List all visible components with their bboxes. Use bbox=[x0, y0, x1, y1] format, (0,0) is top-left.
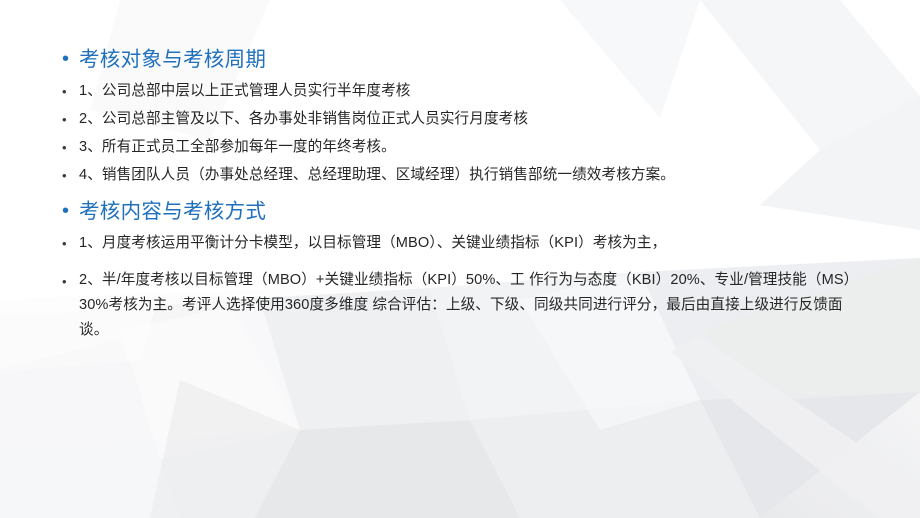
list-item-text: 4、销售团队人员（办事处总经理、总经理助理、区域经理）执行销售部统一绩效考核方案… bbox=[79, 162, 675, 189]
list-item-text: 1、月度考核运用平衡计分卡模型，以目标管理（MBO）、关键业绩指标（KPI）考核… bbox=[79, 230, 666, 257]
list-item: • 2、公司总部主管及以下、各办事处非销售岗位正式人员实行月度考核 bbox=[62, 106, 858, 133]
list-item: • 4、销售团队人员（办事处总经理、总经理助理、区域经理）执行销售部统一绩效考核… bbox=[62, 162, 858, 189]
bullet-icon: • bbox=[62, 162, 79, 189]
bullet-icon: • bbox=[62, 44, 79, 75]
bullet-icon: • bbox=[62, 106, 79, 133]
list-item: • 1、月度考核运用平衡计分卡模型，以目标管理（MBO）、关键业绩指标（KPI）… bbox=[62, 230, 858, 257]
list-item-text: 2、公司总部主管及以下、各办事处非销售岗位正式人员实行月度考核 bbox=[79, 106, 528, 133]
section-heading-2: • 考核内容与考核方式 bbox=[62, 196, 858, 227]
list-item: • 1、公司总部中层以上正式管理人员实行半年度考核 bbox=[62, 78, 858, 105]
bullet-icon: • bbox=[62, 268, 79, 295]
list-item-text: 3、所有正式员工全部参加每年一度的年终考核。 bbox=[79, 134, 396, 161]
bullet-icon: • bbox=[62, 196, 79, 227]
bullet-icon: • bbox=[62, 134, 79, 161]
section-assessment-target: • 考核对象与考核周期 • 1、公司总部中层以上正式管理人员实行半年度考核 • … bbox=[62, 44, 858, 189]
list-item-text: 2、半/年度考核以目标管理（MBO）+关键业绩指标（KPI）50%、工 作行为与… bbox=[79, 268, 858, 343]
list-item: • 3、所有正式员工全部参加每年一度的年终考核。 bbox=[62, 134, 858, 161]
section-assessment-content: • 考核内容与考核方式 • 1、月度考核运用平衡计分卡模型，以目标管理（MBO）… bbox=[62, 196, 858, 343]
slide-content: • 考核对象与考核周期 • 1、公司总部中层以上正式管理人员实行半年度考核 • … bbox=[0, 0, 920, 518]
list-gap bbox=[62, 258, 858, 268]
slide-canvas: • 考核对象与考核周期 • 1、公司总部中层以上正式管理人员实行半年度考核 • … bbox=[0, 0, 920, 518]
list-item: • 2、半/年度考核以目标管理（MBO）+关键业绩指标（KPI）50%、工 作行… bbox=[62, 268, 858, 343]
section-heading-2-text: 考核内容与考核方式 bbox=[79, 196, 266, 227]
section-heading-1-text: 考核对象与考核周期 bbox=[79, 44, 266, 75]
list-item-text: 1、公司总部中层以上正式管理人员实行半年度考核 bbox=[79, 78, 410, 105]
bullet-icon: • bbox=[62, 78, 79, 105]
section-heading-1: • 考核对象与考核周期 bbox=[62, 44, 858, 75]
bullet-icon: • bbox=[62, 230, 79, 257]
